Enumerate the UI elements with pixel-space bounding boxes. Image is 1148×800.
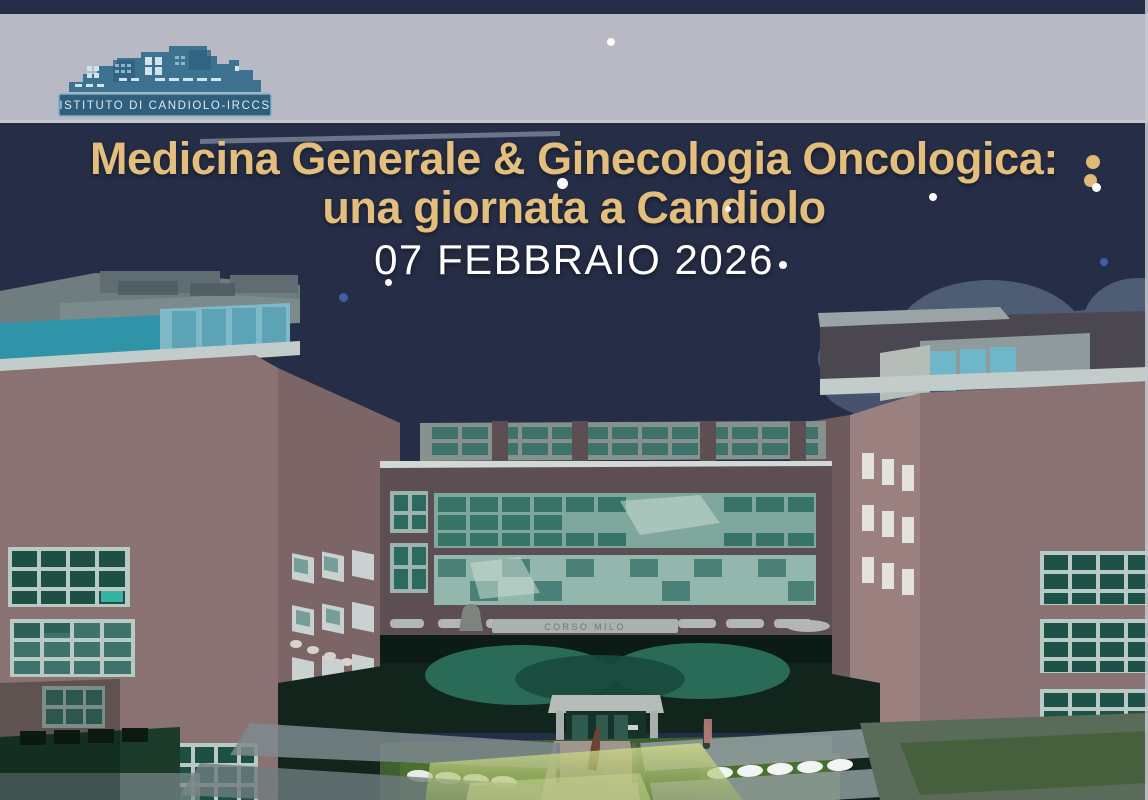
- particle-dot: [1086, 155, 1100, 169]
- istituto-di-candiolo-irccs-logo: ISTITUTO DI CANDIOLO-IRCCS: [57, 44, 273, 119]
- particle-dot: [1100, 258, 1108, 266]
- particle-dot: [725, 206, 731, 212]
- particle-dot: [607, 38, 615, 46]
- logo-plaque-text: ISTITUTO DI CANDIOLO-IRCCS: [59, 100, 270, 112]
- particle-dot: [557, 178, 568, 189]
- particle-dot: [385, 279, 392, 286]
- hero-artwork-area: CORSO MILO: [0, 123, 1148, 800]
- event-poster: ISTITUTO DI CANDIOLO-IRCCS: [0, 0, 1148, 800]
- particle-dot: [1092, 183, 1101, 192]
- candiolo-institute-illustration: CORSO MILO: [0, 123, 1148, 800]
- particle-dot: [929, 193, 937, 201]
- particle-dot: [339, 293, 348, 302]
- top-accent-strip: [0, 0, 1148, 14]
- particle-dot: [779, 261, 787, 269]
- building-signage-text: CORSO MILO: [544, 622, 626, 632]
